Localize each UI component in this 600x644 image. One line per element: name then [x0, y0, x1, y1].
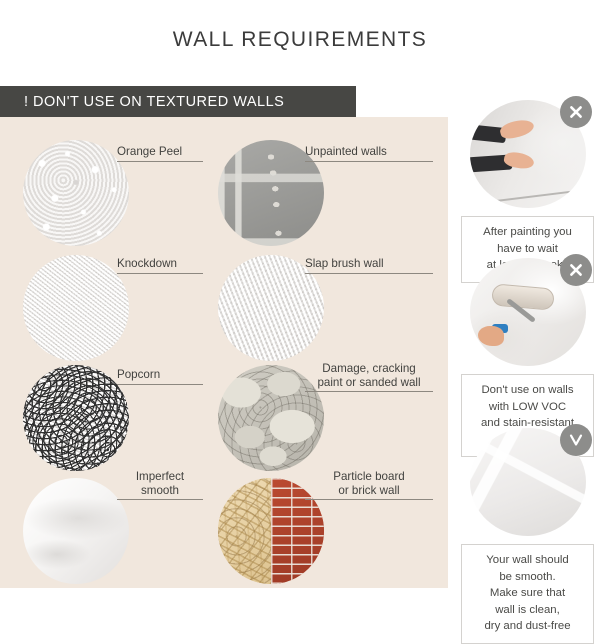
- swatch-label-imperfect-smooth: Imperfect smooth: [117, 470, 203, 500]
- swatch-label-popcorn: Popcorn: [117, 368, 203, 385]
- swatch-popcorn: [23, 365, 129, 471]
- swatch-knockdown: [23, 255, 129, 361]
- hand-holding-roller: [478, 326, 504, 346]
- swatch-imperfect-smooth: [23, 478, 129, 584]
- cross-badge-icon: [560, 96, 592, 128]
- cross-badge-icon: [560, 254, 592, 286]
- warning-banner: ! DON'T USE ON TEXTURED WALLS: [0, 86, 356, 117]
- card-smooth-clean-wall: Your wall should be smooth. Make sure th…: [455, 428, 600, 644]
- swatch-label-particle-board-brick: Particle board or brick wall: [305, 470, 433, 500]
- swatch-label-orange-peel: Orange Peel: [117, 145, 203, 162]
- swatch-label-slap-brush-wall: Slap brush wall: [305, 257, 433, 274]
- swatch-orange-peel: [23, 140, 129, 246]
- swatch-label-damaged-cracking-paint: Damage, cracking paint or sanded wall: [305, 362, 433, 392]
- texture-particle-board: [218, 478, 271, 584]
- infographic-page: WALL REQUIREMENTS ! DON'T USE ON TEXTURE…: [0, 0, 600, 600]
- warning-banner-label: ! DON'T USE ON TEXTURED WALLS: [0, 94, 284, 110]
- card-caption: Your wall should be smooth. Make sure th…: [461, 544, 594, 644]
- wall-edge-line: [470, 189, 585, 205]
- check-badge-icon: [560, 424, 592, 456]
- hand-upper: [498, 117, 535, 141]
- swatch-label-unpainted-walls: Unpainted walls: [305, 145, 433, 162]
- swatch-label-knockdown: Knockdown: [117, 257, 203, 274]
- paint-roller-head: [491, 283, 555, 310]
- page-title: WALL REQUIREMENTS: [0, 28, 600, 52]
